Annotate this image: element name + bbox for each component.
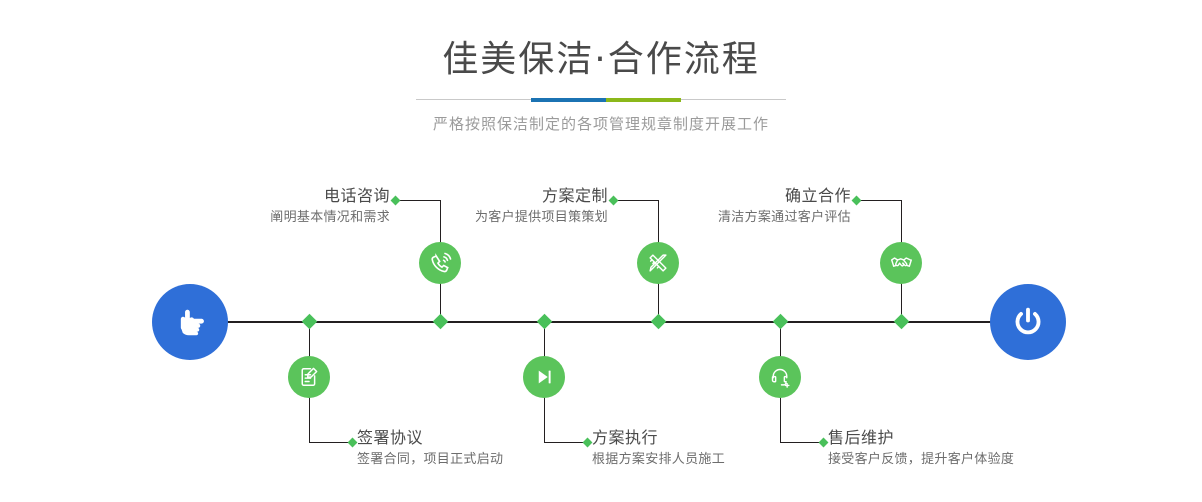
pointing-hand-icon — [168, 300, 212, 344]
step-1-label: 电话咨询 阐明基本情况和需求 — [190, 186, 390, 227]
phone-call-icon — [428, 251, 453, 276]
step-3-label: 方案定制 为客户提供项目策策划 — [408, 186, 608, 227]
timeline-end-node — [990, 284, 1066, 360]
step-2-axis-marker — [302, 314, 318, 330]
step-5-axis-marker — [894, 314, 910, 330]
header: 佳美保洁·合作流程 严格按照保洁制定的各项管理规章制度开展工作 — [0, 0, 1202, 134]
step-1-label-marker — [391, 196, 401, 206]
step-1-axis-marker — [433, 314, 449, 330]
pencil-ruler-icon — [646, 251, 670, 275]
divider-segment-green — [606, 98, 681, 102]
page-subtitle: 严格按照保洁制定的各项管理规章制度开展工作 — [0, 113, 1202, 134]
power-button-icon — [1006, 300, 1050, 344]
step-3-axis-marker — [651, 314, 667, 330]
step-6-label: 售后维护 接受客户反馈，提升客户体验度 — [828, 428, 1128, 469]
title-divider — [416, 98, 786, 102]
step-3-label-marker — [609, 196, 619, 206]
handshake-icon — [889, 251, 914, 276]
step-5-label: 确立合作 清洁方案通过客户评估 — [650, 186, 851, 227]
step-6-axis-marker — [773, 314, 789, 330]
step-4-axis-marker — [537, 314, 553, 330]
document-edit-icon — [297, 365, 321, 389]
step-5-label-marker — [852, 196, 862, 206]
step-2-label-marker — [348, 438, 358, 448]
divider-segment-blue — [531, 98, 606, 102]
headset-support-icon — [768, 365, 792, 389]
play-forward-icon — [532, 365, 556, 389]
page-title: 佳美保洁·合作流程 — [0, 38, 1202, 82]
process-flow-infographic: 佳美保洁·合作流程 严格按照保洁制定的各项管理规章制度开展工作 — [0, 0, 1202, 502]
step-5-connector — [857, 200, 901, 201]
timeline-start-node — [152, 284, 228, 360]
